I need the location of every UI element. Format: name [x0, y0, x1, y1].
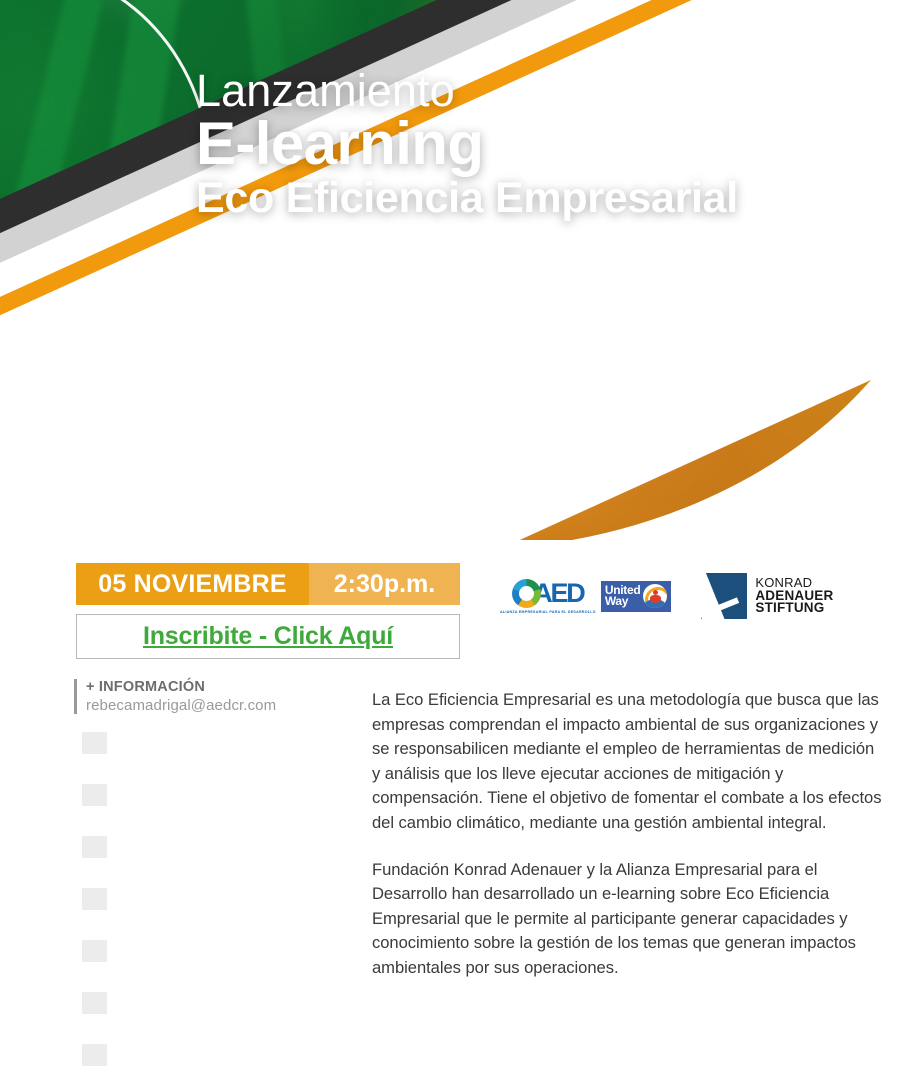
kas-wordmark: KONRAD ADENAUER STIFTUNG: [755, 577, 833, 615]
logo-strip: AED ALIANZA EMPRESARIAL PARA EL DESARROL…: [500, 573, 833, 619]
event-datetime-bar: 05 NOVIEMBRE 2:30p.m.: [76, 563, 460, 605]
email-flyer-page: Lanzamiento E-learning Eco Eficiencia Em…: [0, 0, 919, 1080]
broken-image-placeholder: [82, 732, 107, 754]
united-way-line-2: Way: [605, 596, 641, 608]
more-information-title: + INFORMACIÓN: [86, 679, 276, 695]
broken-image-placeholder: [82, 940, 107, 962]
event-date: 05 NOVIEMBRE: [76, 563, 309, 605]
headline-line-3: Eco Eficiencia Empresarial: [196, 177, 876, 220]
hero-banner: Lanzamiento E-learning Eco Eficiencia Em…: [0, 0, 919, 540]
contact-email[interactable]: rebecamadrigal@aedcr.com: [86, 697, 276, 714]
kas-line-3: STIFTUNG: [755, 602, 833, 615]
aed-united-way-logo: AED ALIANZA EMPRESARIAL PARA EL DESARROL…: [500, 578, 671, 614]
aed-logo: AED ALIANZA EMPRESARIAL PARA EL DESARROL…: [500, 578, 596, 614]
broken-image-placeholder: [82, 1044, 107, 1066]
more-information-block: + INFORMACIÓN rebecamadrigal@aedcr.com: [74, 679, 276, 714]
united-way-person-icon: [653, 590, 658, 595]
united-way-rainbow-hand-icon: [643, 584, 667, 608]
event-time: 2:30p.m.: [309, 563, 460, 605]
broken-image-placeholder: [82, 836, 107, 858]
hero-headline: Lanzamiento E-learning Eco Eficiencia Em…: [196, 68, 876, 220]
aed-swirl-icon: [512, 579, 541, 608]
register-button[interactable]: Inscribite - Click Aquí: [76, 614, 460, 659]
broken-image-placeholder: [82, 992, 107, 1014]
broken-image-placeholder: [82, 784, 107, 806]
kas-letter-a-icon: [701, 573, 747, 619]
united-way-wordmark: United Way: [605, 585, 641, 608]
image-placeholder-column: [82, 732, 107, 1066]
headline-line-1: Lanzamiento: [196, 68, 876, 113]
konrad-adenauer-stiftung-logo: KONRAD ADENAUER STIFTUNG: [701, 573, 833, 619]
aed-logo-tagline: ALIANZA EMPRESARIAL PARA EL DESARROLLO: [500, 610, 596, 614]
body-copy: La Eco Eficiencia Empresarial es una met…: [372, 688, 884, 981]
broken-image-placeholder: [82, 888, 107, 910]
headline-line-2: E-learning: [196, 115, 876, 173]
aed-logo-row: AED: [512, 578, 583, 609]
body-paragraph-1: La Eco Eficiencia Empresarial es una met…: [372, 688, 884, 836]
united-way-logo: United Way: [601, 581, 672, 612]
body-paragraph-2: Fundación Konrad Adenauer y la Alianza E…: [372, 858, 884, 981]
